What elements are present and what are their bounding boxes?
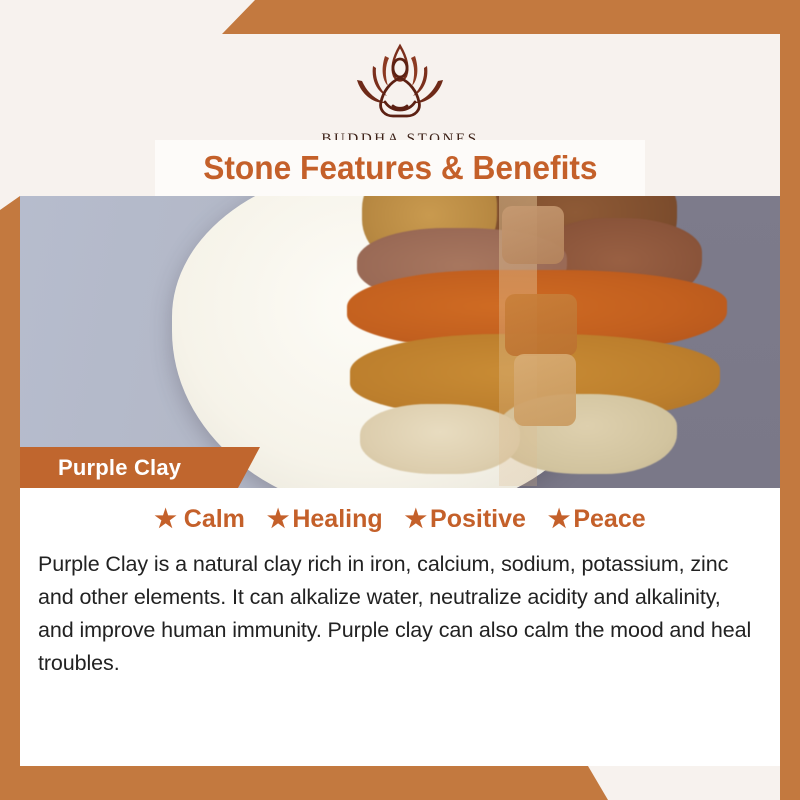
clay-chip-middle <box>505 294 577 356</box>
clay-chip-bottom <box>514 354 576 426</box>
page-title: Stone Features & Benefits <box>203 149 597 187</box>
star-icon: ★ <box>267 507 289 532</box>
product-label: Purple Clay <box>58 455 181 481</box>
clay-chip-top <box>502 206 564 264</box>
star-icon: ★ <box>154 507 176 532</box>
title-banner: Stone Features & Benefits <box>155 140 645 196</box>
benefit-item-healing: ★ Healing <box>267 505 383 534</box>
product-label-banner: Purple Clay <box>20 447 260 488</box>
infographic-page: BUDDHA STONES Stone Features & Benefits … <box>0 0 800 800</box>
frame-right-accent <box>780 0 800 800</box>
star-icon: ★ <box>548 507 570 532</box>
benefit-label: Healing <box>292 505 382 534</box>
benefit-label: Calm <box>184 505 245 534</box>
brand-logo: BUDDHA STONES <box>321 36 478 148</box>
star-icon: ★ <box>405 507 427 532</box>
lotus-meditation-icon <box>341 36 459 128</box>
product-photo <box>20 196 780 488</box>
product-description: Purple Clay is a natural clay rich in ir… <box>38 548 762 680</box>
frame-left-accent <box>0 196 20 800</box>
frame-top-accent <box>0 0 800 34</box>
benefit-item-positive: ★ Positive <box>405 505 526 534</box>
benefit-label: Positive <box>430 505 526 534</box>
powder-cream-left <box>360 404 520 474</box>
content-panel: ★ Calm ★ Healing ★ Positive ★ Peace Purp… <box>20 488 780 766</box>
ceramic-plate <box>172 196 612 488</box>
frame-bottom-accent <box>0 766 800 800</box>
benefit-label: Peace <box>573 505 645 534</box>
benefits-row: ★ Calm ★ Healing ★ Positive ★ Peace <box>20 488 780 534</box>
benefit-item-peace: ★ Peace <box>548 505 646 534</box>
benefit-item-calm: ★ Calm <box>154 505 245 534</box>
